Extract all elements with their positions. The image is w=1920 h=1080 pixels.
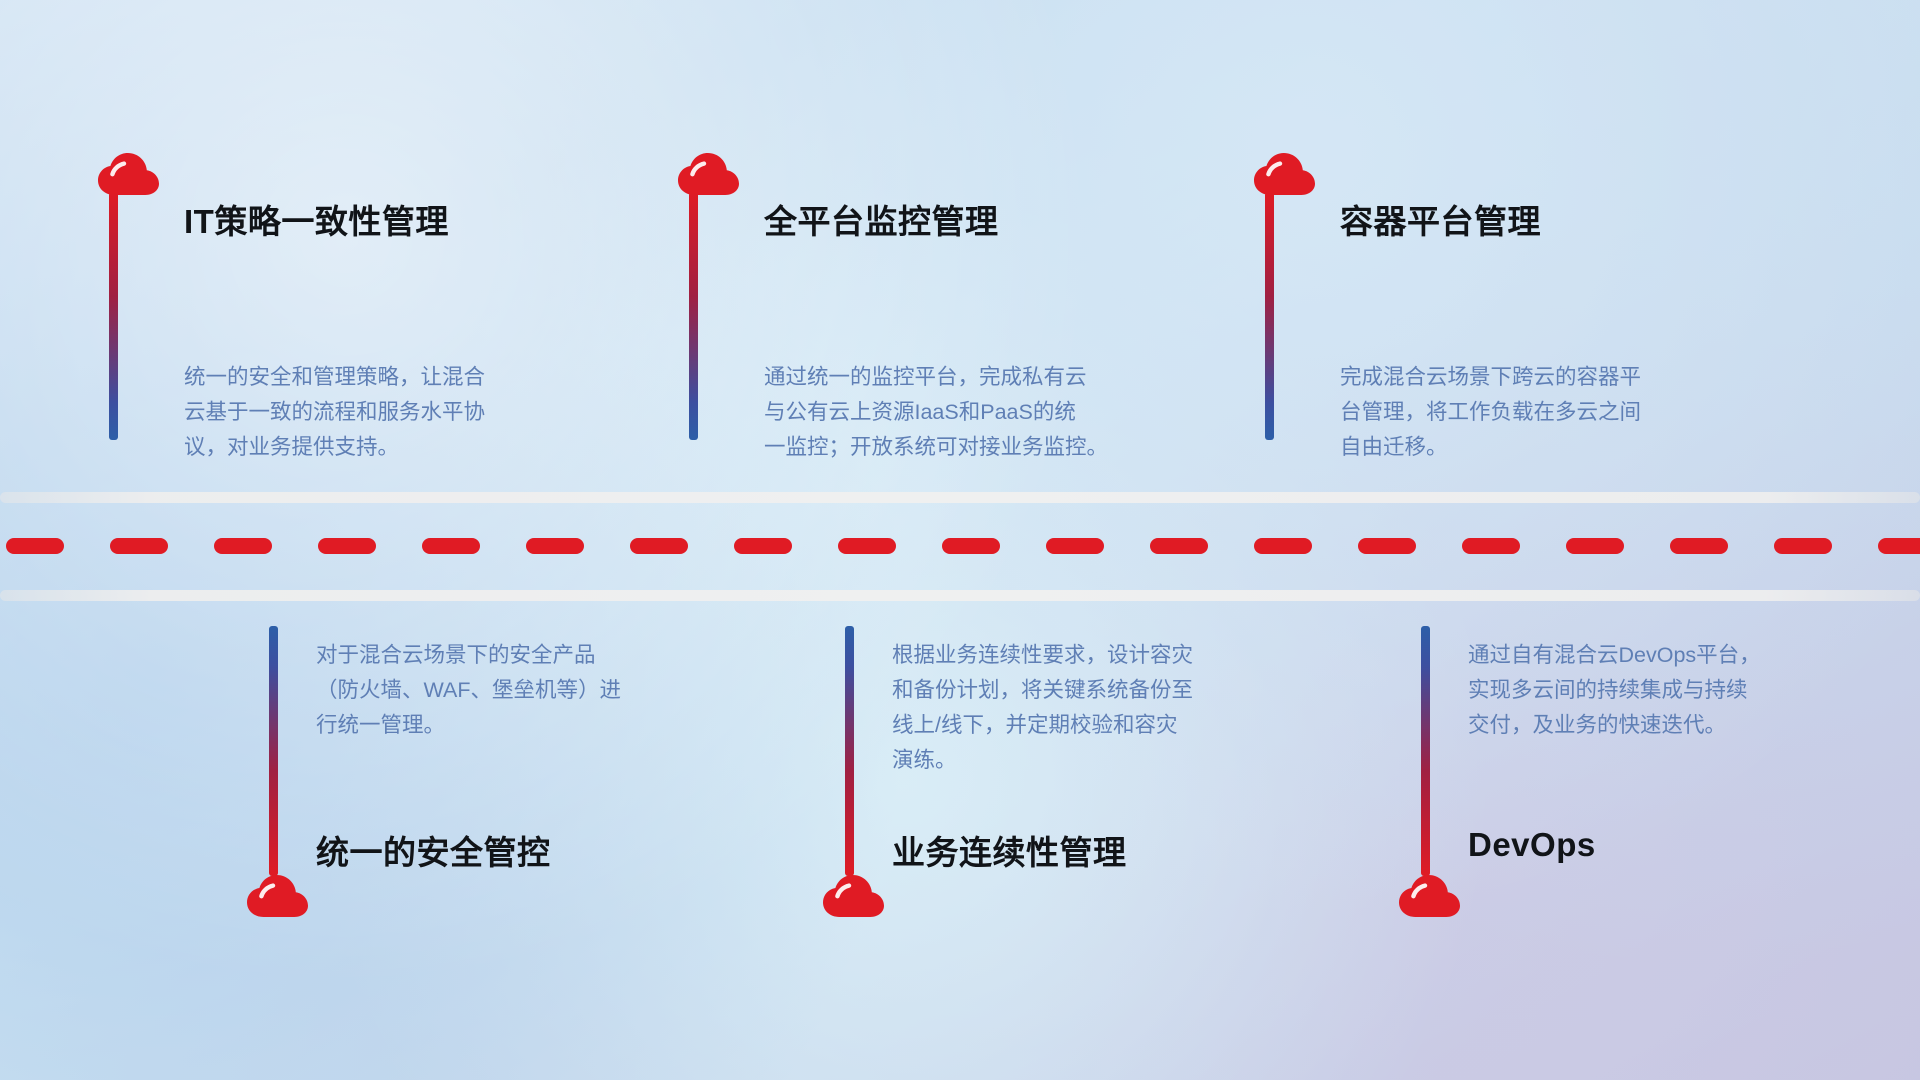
desc-line: 演练。 <box>892 743 1292 778</box>
feature-title: 业务连续性管理 <box>892 826 1127 874</box>
desc-line: 自由迁移。 <box>1340 430 1740 465</box>
road-line-upper <box>0 492 1920 503</box>
road-dash <box>630 538 688 554</box>
road-dash <box>1774 538 1832 554</box>
desc-line: 通过自有混合云DevOps平台， <box>1468 638 1868 673</box>
desc-line: 统一的安全和管理策略，让混合 <box>184 360 584 395</box>
road-dash <box>1878 538 1920 554</box>
pin-stem <box>109 192 118 440</box>
road-dash <box>1462 538 1520 554</box>
feature-title: IT策略一致性管理 <box>184 195 449 243</box>
cloud-pin-3 <box>1252 150 1324 196</box>
desc-line: 议，对业务提供支持。 <box>184 430 584 465</box>
feature-description: 通过统一的监控平台，完成私有云 与公有云上资源IaaS和PaaS的统 一监控；开… <box>764 360 1164 465</box>
desc-line: 实现多云间的持续集成与持续 <box>1468 673 1868 708</box>
pin-stem <box>269 626 278 876</box>
road-dash <box>318 538 376 554</box>
desc-line: 行统一管理。 <box>316 708 716 743</box>
road-dash <box>838 538 896 554</box>
road-dash <box>6 538 64 554</box>
desc-line: （防火墙、WAF、堡垒机等）进 <box>316 673 716 708</box>
road-dash <box>734 538 792 554</box>
road-dash <box>1670 538 1728 554</box>
feature-description: 根据业务连续性要求，设计容灾 和备份计划，将关键系统备份至 线上/线下，并定期校… <box>892 638 1292 778</box>
road-dash <box>1046 538 1104 554</box>
pin-stem <box>845 626 854 876</box>
cloud-icon <box>676 150 742 196</box>
infographic-canvas: IT策略一致性管理 统一的安全和管理策略，让混合 云基于一致的流程和服务水平协 … <box>0 0 1920 1080</box>
road-dash <box>526 538 584 554</box>
desc-line: 根据业务连续性要求，设计容灾 <box>892 638 1292 673</box>
road-dash <box>110 538 168 554</box>
desc-line: 完成混合云场景下跨云的容器平 <box>1340 360 1740 395</box>
desc-line: 一监控；开放系统可对接业务监控。 <box>764 430 1164 465</box>
pin-stem <box>1265 192 1274 440</box>
feature-title: DevOps <box>1468 826 1596 864</box>
cloud-pin-1 <box>96 150 168 196</box>
road-dash <box>1566 538 1624 554</box>
cloud-pin-2 <box>676 150 748 196</box>
feature-description: 对于混合云场景下的安全产品 （防火墙、WAF、堡垒机等）进 行统一管理。 <box>316 638 716 743</box>
desc-line: 对于混合云场景下的安全产品 <box>316 638 716 673</box>
feature-title: 容器平台管理 <box>1340 195 1541 243</box>
road-dash <box>1254 538 1312 554</box>
feature-title: 全平台监控管理 <box>764 195 999 243</box>
cloud-icon <box>1252 150 1318 196</box>
feature-description: 通过自有混合云DevOps平台， 实现多云间的持续集成与持续 交付，及业务的快速… <box>1468 638 1868 743</box>
desc-line: 交付，及业务的快速迭代。 <box>1468 708 1868 743</box>
cloud-icon <box>1397 872 1463 918</box>
feature-description: 统一的安全和管理策略，让混合 云基于一致的流程和服务水平协 议，对业务提供支持。 <box>184 360 584 465</box>
cloud-icon <box>245 872 311 918</box>
road-dashed-centerline <box>0 538 1920 554</box>
road-dash <box>214 538 272 554</box>
desc-line: 和备份计划，将关键系统备份至 <box>892 673 1292 708</box>
desc-line: 与公有云上资源IaaS和PaaS的统 <box>764 395 1164 430</box>
road-dash <box>1358 538 1416 554</box>
cloud-icon <box>96 150 162 196</box>
desc-line: 云基于一致的流程和服务水平协 <box>184 395 584 430</box>
road-dash <box>422 538 480 554</box>
pin-stem <box>1421 626 1430 876</box>
pin-stem <box>689 192 698 440</box>
feature-description: 完成混合云场景下跨云的容器平 台管理，将工作负载在多云之间 自由迁移。 <box>1340 360 1740 465</box>
road-dash <box>1150 538 1208 554</box>
desc-line: 线上/线下，并定期校验和容灾 <box>892 708 1292 743</box>
desc-line: 通过统一的监控平台，完成私有云 <box>764 360 1164 395</box>
desc-line: 台管理，将工作负载在多云之间 <box>1340 395 1740 430</box>
road-dash <box>942 538 1000 554</box>
road-line-lower <box>0 590 1920 601</box>
cloud-icon <box>821 872 887 918</box>
feature-title: 统一的安全管控 <box>316 826 551 874</box>
